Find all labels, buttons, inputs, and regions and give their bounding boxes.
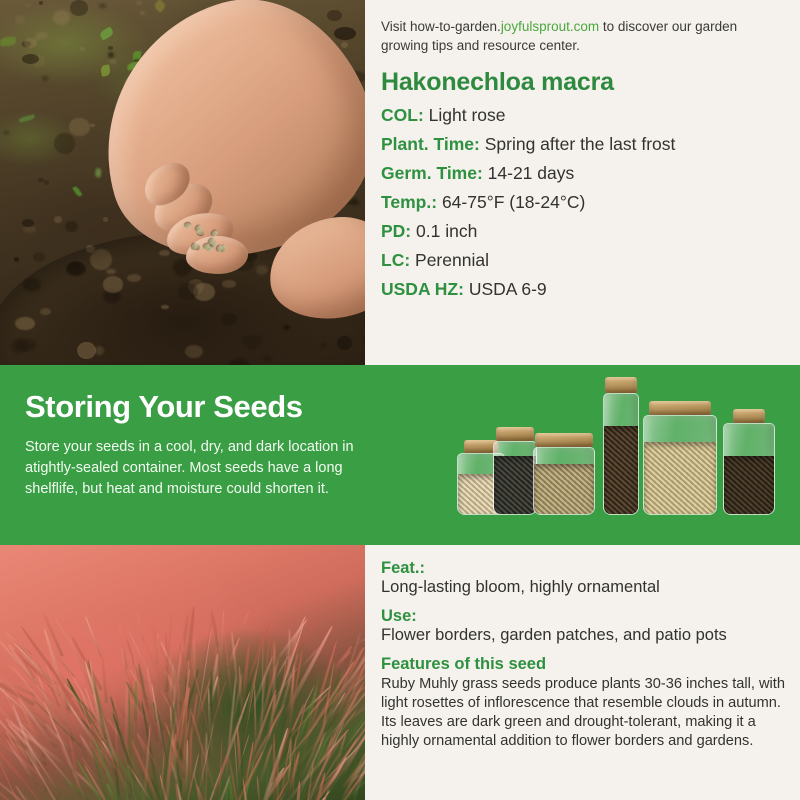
seed-fill [494, 456, 536, 514]
spec-value: Spring after the last frost [480, 134, 676, 154]
jar-fine-seeds [533, 433, 595, 515]
seedling-sprout [72, 185, 82, 197]
soil-clod [69, 118, 89, 136]
banner-body: Store your seeds in a cool, dry, and dar… [25, 437, 385, 500]
seed [210, 229, 219, 237]
soil-clod [136, 1, 141, 5]
spec-label: USDA HZ: [381, 279, 464, 299]
grass-blade [233, 611, 250, 645]
muhly-grass-photo [0, 545, 365, 800]
seedling-sprout [0, 36, 16, 46]
spec-label: Temp.: [381, 192, 437, 212]
features-body: Ruby Muhly grass seeds produce plants 30… [381, 675, 786, 751]
seeds-in-palm [176, 222, 230, 256]
bottom-section: Feat.: Long-lasting bloom, highly orname… [0, 545, 800, 800]
soil-clod [15, 15, 25, 24]
glass-body [643, 415, 717, 515]
soil-clod [34, 36, 41, 42]
soil-clod [350, 200, 360, 205]
soil-clod [14, 257, 19, 261]
spec-value: 14-21 days [483, 163, 574, 183]
grass-blade [137, 613, 144, 641]
website-link[interactable]: joyfulsprout.com [501, 19, 599, 34]
soil-clod [103, 217, 108, 222]
spec-list: COL: Light rosePlant. Time: Spring after… [381, 107, 786, 299]
soil-clod [54, 133, 76, 154]
jar-dark-seeds [493, 427, 537, 515]
grass-blade [11, 789, 46, 800]
cork-lid [496, 427, 534, 441]
seed-fill [604, 426, 638, 514]
seed-details-panel: Feat.: Long-lasting bloom, highly orname… [365, 545, 800, 800]
spec-label: PD: [381, 221, 411, 241]
features-title: Features of this seed [381, 655, 786, 675]
glass-body [533, 447, 595, 515]
seed [197, 229, 205, 235]
spec-row: Germ. Time: 14-21 days [381, 165, 786, 183]
cork-lid [733, 409, 765, 423]
spec-row: COL: Light rose [381, 107, 786, 125]
soil-clod [22, 219, 34, 226]
soil-clod [108, 52, 114, 57]
spec-label: Plant. Time: [381, 134, 480, 154]
plant-specs-panel: Visit how-to-garden.joyfulsprout.com to … [365, 0, 800, 365]
soil-clod [38, 178, 44, 182]
soil-clod [108, 46, 113, 49]
storing-seeds-banner: Storing Your Seeds Store your seeds in a… [0, 365, 800, 545]
spec-label: COL: [381, 105, 424, 125]
soil-clod [70, 0, 88, 15]
grass-blades [0, 545, 365, 800]
spec-value: 64-75°F (18-24°C) [437, 192, 585, 212]
soil-clod [25, 4, 30, 7]
spec-value: 0.1 inch [411, 221, 477, 241]
cork-lid [535, 433, 593, 447]
use-label: Use: [381, 607, 786, 626]
hands-planting-seeds-photo [0, 0, 365, 365]
grass-blade [210, 609, 221, 647]
soil-clod [341, 42, 348, 48]
soil-clod [44, 180, 49, 185]
soil-clod [334, 27, 356, 40]
soil-clod [90, 124, 95, 127]
plant-title: Hakonechloa macra [381, 68, 786, 97]
soil-clod [23, 226, 36, 234]
grass-blade [100, 651, 107, 703]
spec-label: LC: [381, 250, 410, 270]
spec-row: Plant. Time: Spring after the last frost [381, 136, 786, 154]
seed-jars-photo [455, 373, 800, 533]
soil-clod [33, 252, 45, 262]
soil-clod [54, 216, 62, 223]
spec-row: USDA HZ: USDA 6-9 [381, 281, 786, 299]
jar-sunflower-seeds [723, 409, 775, 515]
spec-row: Temp.: 64-75°F (18-24°C) [381, 194, 786, 212]
soil-clod [4, 131, 9, 134]
seedling-sprout [99, 27, 114, 41]
soil-clod [99, 4, 106, 9]
soil-clod [80, 47, 84, 51]
grass-blade [85, 617, 102, 657]
seedling-sprout [100, 65, 111, 77]
seedling-sprout [18, 114, 34, 123]
use-value: Flower borders, garden patches, and pati… [381, 626, 786, 646]
seed-fill [644, 442, 716, 514]
soil-clod [327, 10, 342, 21]
jar-large-pumpkin-seeds [643, 401, 717, 515]
glass-body [723, 423, 775, 515]
seed-fill [724, 456, 774, 514]
visit-line: Visit how-to-garden.joyfulsprout.com to … [381, 18, 786, 55]
spec-value: USDA 6-9 [464, 279, 547, 299]
soil-clod [22, 54, 39, 64]
cork-lid [649, 401, 711, 415]
jar-tall-dark-seeds [603, 377, 639, 515]
glass-body [603, 393, 639, 515]
spec-label: Germ. Time: [381, 163, 483, 183]
spec-row: LC: Perennial [381, 252, 786, 270]
feature-label: Feat.: [381, 559, 786, 578]
spec-value: Light rose [424, 105, 506, 125]
soil-clod [53, 10, 70, 25]
soil-clod [65, 221, 78, 232]
spec-row: PD: 0.1 inch [381, 223, 786, 241]
top-section: Visit how-to-garden.joyfulsprout.com to … [0, 0, 800, 365]
seed [184, 223, 191, 228]
cork-lid [605, 377, 637, 393]
soil-clod [109, 59, 117, 63]
spec-value: Perennial [410, 250, 489, 270]
seed-fill [534, 464, 594, 514]
soil-clod [42, 76, 48, 81]
soil-clod [140, 11, 145, 15]
glass-body [493, 441, 537, 515]
feature-value: Long-lasting bloom, highly ornamental [381, 578, 786, 598]
seedling-sprout [153, 0, 167, 13]
banner-title: Storing Your Seeds [25, 389, 385, 425]
soil-clod [39, 1, 44, 5]
visit-prefix: Visit how-to-garden. [381, 19, 501, 34]
seedling-sprout [94, 168, 102, 178]
banner-text-block: Storing Your Seeds Store your seeds in a… [25, 389, 385, 500]
seed-packet-infographic: Visit how-to-garden.joyfulsprout.com to … [0, 0, 800, 800]
